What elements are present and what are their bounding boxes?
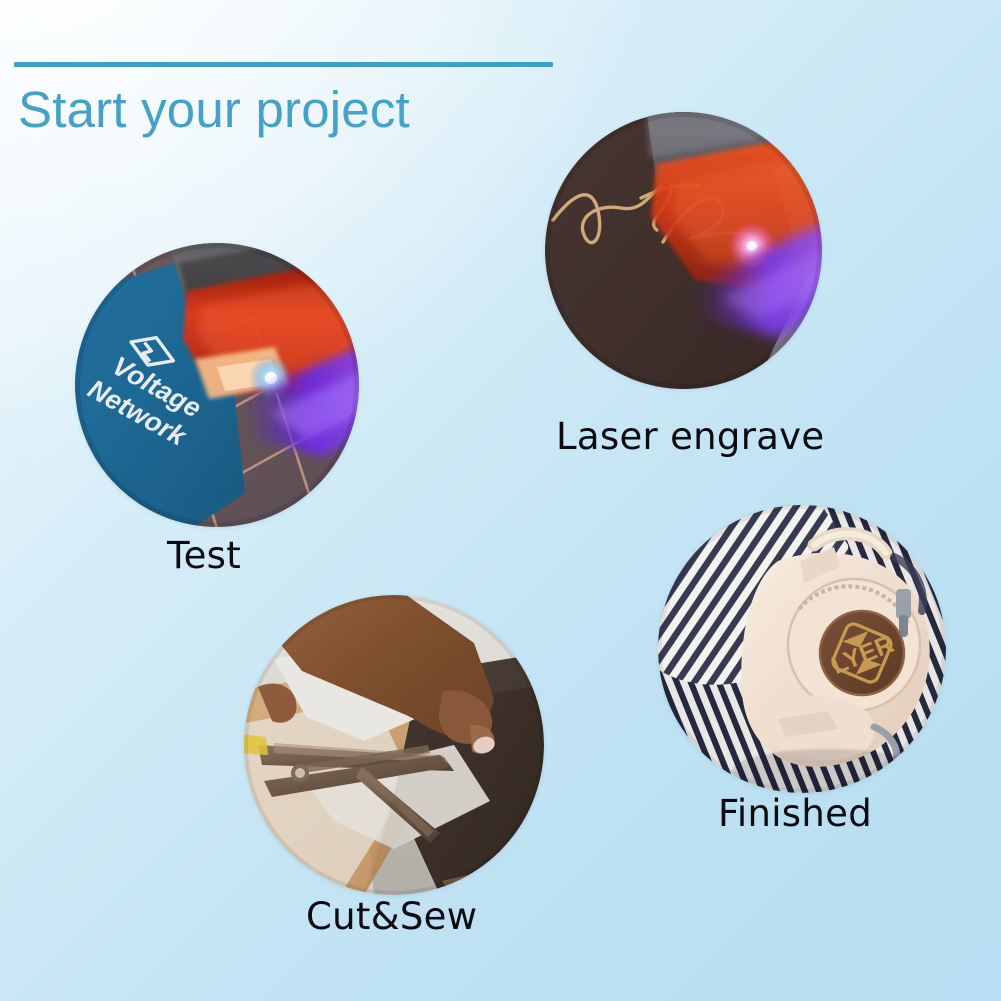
step-laser-engrave-label: Laser engrave <box>556 415 824 458</box>
step-cut-sew-photo <box>244 595 544 895</box>
step-test-photo: Voltage Network <box>75 243 359 527</box>
step-test: Voltage Network <box>75 243 359 527</box>
step-test-label: Test <box>167 534 241 577</box>
step-finished: LYER Finished <box>658 505 946 793</box>
step-cut-sew: Cut&Sew <box>244 595 544 895</box>
header: Start your project <box>14 62 574 136</box>
page-title: Start your project <box>14 83 574 136</box>
step-laser-engrave-photo <box>545 112 822 389</box>
step-cut-sew-label: Cut&Sew <box>306 895 477 938</box>
title-divider <box>14 62 553 67</box>
step-laser-engrave: Laser engrave <box>545 112 822 389</box>
promo-graphic: Start your project <box>0 0 1001 1001</box>
step-finished-photo: LYER <box>658 505 946 793</box>
step-finished-label: Finished <box>718 792 872 835</box>
